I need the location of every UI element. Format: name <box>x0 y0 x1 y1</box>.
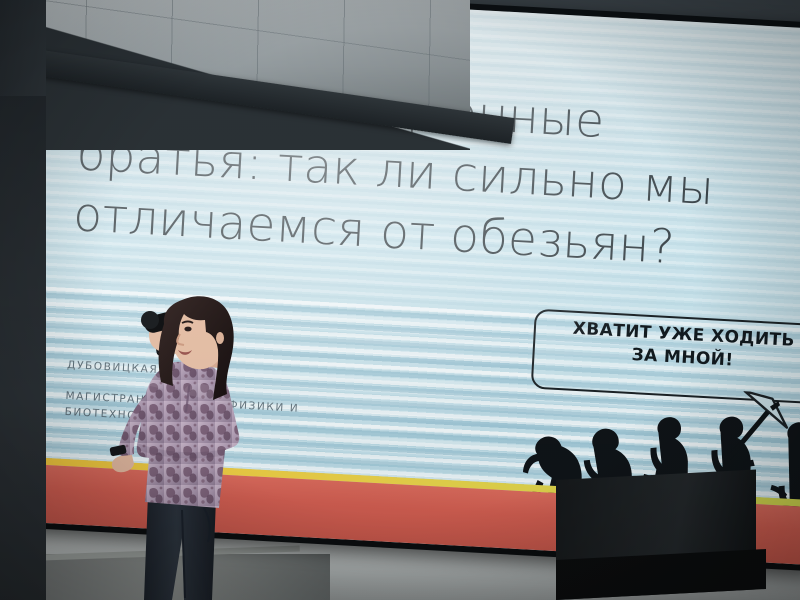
presenter-jeans <box>144 494 216 600</box>
presenter-figure <box>96 296 326 600</box>
presenter-eye <box>184 327 191 332</box>
left-wall-dark-front <box>0 96 46 600</box>
presenter-right-hand <box>112 455 134 472</box>
presentation-photo: Наши эволюционные братья: так ли сильно … <box>0 0 800 600</box>
presenter-ear <box>216 332 224 344</box>
speech-bubble-line-2: ЗА МНОЙ! <box>631 345 734 371</box>
